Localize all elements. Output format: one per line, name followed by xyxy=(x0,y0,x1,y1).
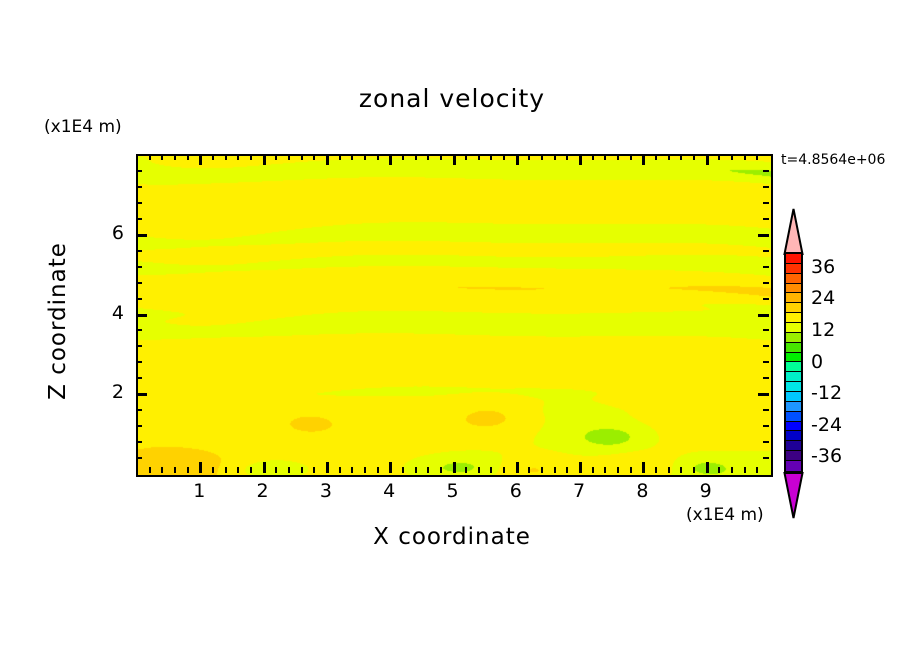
colorbar-band xyxy=(786,402,801,412)
plot-canvas: zonal velocity (x1E4 m) (x1E4 m) t=4.856… xyxy=(0,0,904,654)
tick-mark xyxy=(136,377,142,379)
tick-mark xyxy=(763,361,769,363)
tick-mark xyxy=(402,467,404,473)
colorbar xyxy=(784,252,803,473)
tick-mark xyxy=(136,457,142,459)
tick-mark xyxy=(136,218,142,220)
tick-mark xyxy=(763,377,769,379)
tick-mark xyxy=(212,467,214,473)
tick-mark xyxy=(301,467,303,473)
tick-mark xyxy=(763,218,769,220)
tick-mark xyxy=(415,467,417,473)
colorbar-band xyxy=(786,362,801,372)
tick-mark xyxy=(604,154,606,160)
tick-mark xyxy=(763,425,769,427)
colorbar-band xyxy=(786,461,801,471)
tick-mark xyxy=(136,298,142,300)
colorbar-band xyxy=(786,293,801,303)
tick-mark xyxy=(706,154,709,165)
tick-mark xyxy=(351,154,353,160)
tick-mark xyxy=(313,467,315,473)
tick-mark xyxy=(199,154,202,165)
x-axis-unit-label: (x1E4 m) xyxy=(686,505,764,525)
colorbar-band xyxy=(786,333,801,343)
tick-mark xyxy=(453,462,456,473)
colorbar-band xyxy=(786,441,801,451)
tick-mark xyxy=(237,154,239,160)
tick-mark xyxy=(642,462,645,473)
colorbar-tick-label: -12 xyxy=(811,382,842,404)
tick-mark xyxy=(541,467,543,473)
tick-mark xyxy=(136,266,142,268)
x-tick-label: 6 xyxy=(496,480,536,502)
tick-mark xyxy=(427,467,429,473)
colorbar-band xyxy=(786,264,801,274)
tick-mark xyxy=(187,467,189,473)
tick-mark xyxy=(763,186,769,188)
z-tick-label: 4 xyxy=(92,302,124,324)
x-tick-label: 9 xyxy=(686,480,726,502)
colorbar-band xyxy=(786,254,801,264)
tick-mark xyxy=(250,154,252,160)
colorbar-band xyxy=(786,274,801,284)
colorbar-band xyxy=(786,313,801,323)
page-title: zonal velocity xyxy=(0,84,904,113)
tick-mark xyxy=(579,462,582,473)
x-tick-label: 2 xyxy=(243,480,283,502)
tick-mark xyxy=(763,170,769,172)
colorbar-over-arrow xyxy=(782,208,805,256)
tick-mark xyxy=(364,154,366,160)
colorbar-band xyxy=(786,343,801,353)
colorbar-band xyxy=(786,372,801,382)
tick-mark xyxy=(668,467,670,473)
tick-mark xyxy=(680,467,682,473)
tick-mark xyxy=(199,462,202,473)
tick-mark xyxy=(225,467,227,473)
tick-mark xyxy=(763,282,769,284)
tick-mark xyxy=(756,154,758,160)
tick-mark xyxy=(763,409,769,411)
colorbar-band xyxy=(786,451,801,461)
tick-mark xyxy=(136,409,142,411)
x-tick-label: 1 xyxy=(179,480,219,502)
tick-mark xyxy=(554,467,556,473)
tick-mark xyxy=(225,154,227,160)
tick-mark xyxy=(288,467,290,473)
tick-mark xyxy=(579,154,582,165)
tick-mark xyxy=(402,154,404,160)
tick-mark xyxy=(478,467,480,473)
tick-mark xyxy=(136,186,142,188)
tick-mark xyxy=(763,457,769,459)
tick-mark xyxy=(149,467,151,473)
tick-mark xyxy=(136,393,147,396)
tick-mark xyxy=(465,154,467,160)
tick-mark xyxy=(161,467,163,473)
tick-mark xyxy=(566,154,568,160)
tick-mark xyxy=(763,250,769,252)
tick-mark xyxy=(758,393,769,396)
x-tick-label: 5 xyxy=(433,480,473,502)
tick-mark xyxy=(136,170,142,172)
tick-mark xyxy=(490,154,492,160)
tick-mark xyxy=(313,154,315,160)
tick-mark xyxy=(326,462,329,473)
tick-mark xyxy=(592,467,594,473)
colorbar-band xyxy=(786,323,801,333)
tick-mark xyxy=(693,467,695,473)
tick-mark xyxy=(136,314,147,317)
tick-mark xyxy=(427,154,429,160)
colorbar-tick-label: 12 xyxy=(811,319,835,341)
tick-mark xyxy=(763,266,769,268)
colorbar-tick-label: -36 xyxy=(811,445,842,467)
tick-mark xyxy=(617,467,619,473)
tick-mark xyxy=(718,467,720,473)
tick-mark xyxy=(136,329,142,331)
tick-mark xyxy=(763,329,769,331)
tick-mark xyxy=(136,202,142,204)
tick-mark xyxy=(756,467,758,473)
tick-mark xyxy=(744,154,746,160)
tick-mark xyxy=(149,154,151,160)
tick-mark xyxy=(763,298,769,300)
tick-mark xyxy=(758,234,769,237)
tick-mark xyxy=(174,154,176,160)
tick-mark xyxy=(339,467,341,473)
tick-mark xyxy=(288,154,290,160)
tick-mark xyxy=(212,154,214,160)
tick-mark xyxy=(389,462,392,473)
tick-mark xyxy=(136,441,142,443)
colorbar-band xyxy=(786,412,801,422)
tick-mark xyxy=(415,154,417,160)
tick-mark xyxy=(763,441,769,443)
tick-mark xyxy=(617,154,619,160)
tick-mark xyxy=(377,154,379,160)
tick-mark xyxy=(440,467,442,473)
tick-mark xyxy=(655,154,657,160)
x-axis-title: X coordinate xyxy=(0,524,904,550)
tick-mark xyxy=(503,467,505,473)
tick-mark xyxy=(516,154,519,165)
colorbar-tick-label: 36 xyxy=(811,256,835,278)
tick-mark xyxy=(630,467,632,473)
tick-mark xyxy=(351,467,353,473)
colorbar-band xyxy=(786,284,801,294)
tick-mark xyxy=(490,467,492,473)
colorbar-under-arrow xyxy=(782,471,805,519)
colorbar-band xyxy=(786,392,801,402)
colorbar-tick-label: 0 xyxy=(811,351,823,373)
tick-mark xyxy=(263,462,266,473)
tick-mark xyxy=(478,154,480,160)
tick-mark xyxy=(503,154,505,160)
tick-mark xyxy=(389,154,392,165)
z-axis-title: Z coordinate xyxy=(45,221,71,421)
tick-mark xyxy=(758,314,769,317)
x-tick-label: 8 xyxy=(622,480,662,502)
tick-mark xyxy=(275,154,277,160)
tick-mark xyxy=(364,467,366,473)
tick-mark xyxy=(326,154,329,165)
colorbar-band xyxy=(786,382,801,392)
tick-mark xyxy=(237,467,239,473)
colorbar-band xyxy=(786,353,801,363)
tick-mark xyxy=(604,467,606,473)
z-axis-unit-label: (x1E4 m) xyxy=(44,117,122,137)
tick-mark xyxy=(250,467,252,473)
tick-mark xyxy=(630,154,632,160)
tick-mark xyxy=(377,467,379,473)
tick-mark xyxy=(680,154,682,160)
tick-mark xyxy=(668,154,670,160)
z-tick-label: 2 xyxy=(92,381,124,403)
tick-mark xyxy=(187,154,189,160)
tick-mark xyxy=(541,154,543,160)
tick-mark xyxy=(744,467,746,473)
tick-mark xyxy=(136,361,142,363)
tick-mark xyxy=(655,467,657,473)
colorbar-tick-label: -24 xyxy=(811,414,842,436)
timestamp-annotation: t=4.8564e+06 xyxy=(781,152,885,168)
tick-mark xyxy=(566,467,568,473)
tick-mark xyxy=(528,467,530,473)
tick-mark xyxy=(453,154,456,165)
colorbar-band xyxy=(786,303,801,313)
tick-mark xyxy=(465,467,467,473)
tick-mark xyxy=(592,154,594,160)
tick-mark xyxy=(136,345,142,347)
tick-mark xyxy=(301,154,303,160)
tick-mark xyxy=(440,154,442,160)
x-tick-label: 7 xyxy=(559,480,599,502)
colorbar-tick-label: 24 xyxy=(811,287,835,309)
x-tick-label: 4 xyxy=(369,480,409,502)
tick-mark xyxy=(528,154,530,160)
x-tick-label: 3 xyxy=(306,480,346,502)
colorbar-band xyxy=(786,422,801,432)
tick-mark xyxy=(136,250,142,252)
tick-mark xyxy=(174,467,176,473)
tick-mark xyxy=(275,467,277,473)
contour-field xyxy=(138,156,771,475)
tick-mark xyxy=(693,154,695,160)
colorbar-band xyxy=(786,431,801,441)
tick-mark xyxy=(642,154,645,165)
tick-mark xyxy=(516,462,519,473)
tick-mark xyxy=(731,467,733,473)
contour-plot-area xyxy=(136,154,773,477)
tick-mark xyxy=(706,462,709,473)
tick-mark xyxy=(718,154,720,160)
tick-mark xyxy=(136,425,142,427)
tick-mark xyxy=(763,345,769,347)
tick-mark xyxy=(339,154,341,160)
tick-mark xyxy=(731,154,733,160)
tick-mark xyxy=(263,154,266,165)
tick-mark xyxy=(136,234,147,237)
tick-mark xyxy=(554,154,556,160)
tick-mark xyxy=(161,154,163,160)
tick-mark xyxy=(763,202,769,204)
z-tick-label: 6 xyxy=(92,222,124,244)
tick-mark xyxy=(136,282,142,284)
